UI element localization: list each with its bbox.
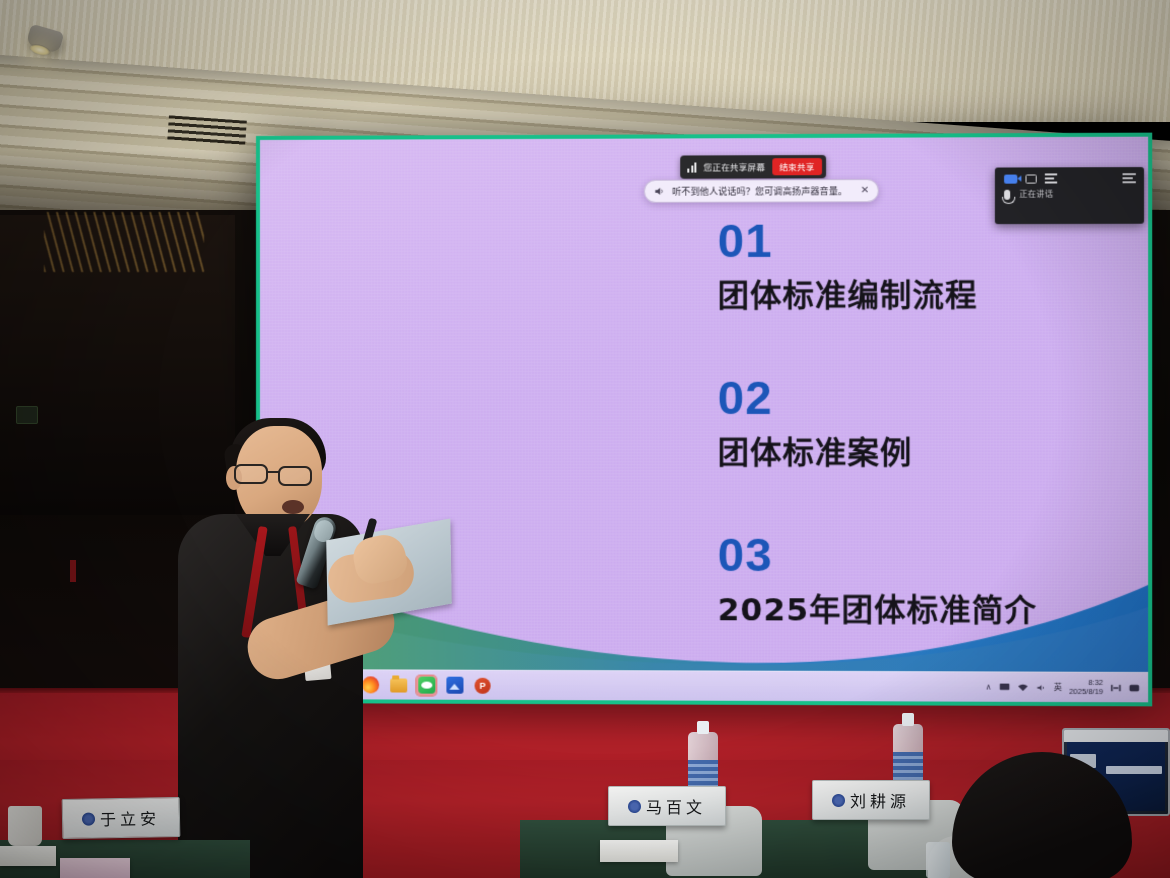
- name-placard: 于立安: [62, 797, 181, 839]
- name-placard: 刘耕源: [812, 780, 930, 820]
- taskbar-clock[interactable]: 8:32 2025/8/19: [1069, 679, 1103, 697]
- window-icon[interactable]: [1025, 174, 1036, 183]
- paper-cup: [8, 806, 42, 846]
- agenda-item-3: 03 2025年团体标准简介: [718, 531, 1037, 630]
- display-icon[interactable]: [999, 682, 1010, 692]
- organization-seal-icon: [82, 812, 95, 825]
- agenda-title: 团体标准编制流程: [718, 269, 1037, 315]
- agenda-title: 2025年团体标准简介: [718, 584, 1037, 630]
- camera-icon[interactable]: [1004, 174, 1017, 183]
- screen-share-banner[interactable]: 您正在共享屏幕 结束共享: [680, 155, 826, 179]
- microphone-icon[interactable]: [1004, 189, 1010, 199]
- toolbar-row-mic: 正在讲话: [995, 185, 1144, 203]
- agenda-item-2: 02 团体标准案例: [718, 374, 1037, 473]
- agenda-item-1: 01 团体标准编制流程: [718, 216, 1037, 315]
- document-on-table: [0, 846, 56, 866]
- windows-taskbar[interactable]: ✦ ∧ 英 8:32: [260, 669, 1148, 702]
- laptop-toolbar: [1064, 730, 1168, 742]
- document-on-table: [600, 840, 678, 862]
- presenter-glasses: [234, 464, 324, 486]
- system-tray: ∧ 英 8:32 2025/8/19: [985, 678, 1148, 696]
- powerpoint-icon[interactable]: [473, 675, 493, 695]
- organization-seal-icon: [628, 800, 641, 813]
- wechat-icon[interactable]: [416, 675, 436, 695]
- stop-share-button[interactable]: 结束共享: [772, 158, 821, 175]
- placard-name: 马百文: [646, 794, 706, 818]
- file-explorer-icon[interactable]: [388, 675, 408, 695]
- organization-seal-icon: [832, 794, 845, 807]
- presenter-mouth: [282, 500, 304, 514]
- toolbar-row-top: [995, 167, 1144, 186]
- placard-name: 刘耕源: [850, 788, 910, 812]
- conference-room-scene: 01 团体标准编制流程 02 团体标准案例 03 2025年团体标准简介 您正在…: [0, 0, 1170, 878]
- participants-list-icon[interactable]: [1045, 173, 1057, 183]
- agenda-number: 03: [718, 531, 1037, 579]
- more-options-icon[interactable]: [1123, 173, 1136, 183]
- wall-marker: [70, 560, 76, 582]
- notification-icon[interactable]: [1129, 683, 1140, 693]
- pink-document: [60, 858, 130, 878]
- speaker-icon: [654, 186, 665, 197]
- glasses-lens-left: [234, 464, 268, 484]
- agenda-list: 01 团体标准编制流程 02 团体标准案例 03 2025年团体标准简介: [718, 216, 1037, 689]
- bottle-label: [893, 752, 923, 782]
- signal-bars-icon: [687, 162, 696, 172]
- gold-ceiling-decoration: [44, 212, 204, 272]
- ceiling-vent: [167, 115, 247, 146]
- exit-sign: [16, 406, 38, 424]
- tray-chevron-icon[interactable]: ∧: [985, 683, 991, 692]
- agenda-number: 01: [718, 216, 1037, 264]
- ime-indicator[interactable]: 英: [1054, 682, 1062, 693]
- meeting-floating-toolbar[interactable]: 正在讲话: [995, 167, 1144, 224]
- agenda-number: 02: [718, 374, 1037, 421]
- audio-hint-text: 听不到他人说话吗？您可调高扬声器音量。: [672, 184, 847, 198]
- close-icon[interactable]: ✕: [854, 186, 869, 196]
- network-icon[interactable]: [1017, 682, 1028, 692]
- share-status-text: 您正在共享屏幕: [703, 161, 765, 173]
- name-placard: 马百文: [608, 786, 726, 826]
- audio-hint-toast: 听不到他人说话吗？您可调高扬声器音量。 ✕: [644, 179, 879, 203]
- presenter: [178, 418, 383, 878]
- mic-status-label: 正在讲话: [1019, 189, 1053, 200]
- clock-date: 2025/8/19: [1069, 687, 1103, 696]
- meeting-icon[interactable]: [1110, 682, 1121, 692]
- water-glass: [926, 842, 950, 878]
- laptop-slide-title: [1106, 766, 1162, 774]
- placard-name: 于立安: [100, 805, 160, 830]
- blue-app-icon[interactable]: [444, 675, 464, 695]
- agenda-title: 团体标准案例: [718, 427, 1037, 472]
- volume-icon[interactable]: [1035, 682, 1046, 692]
- glasses-lens-right: [278, 466, 312, 486]
